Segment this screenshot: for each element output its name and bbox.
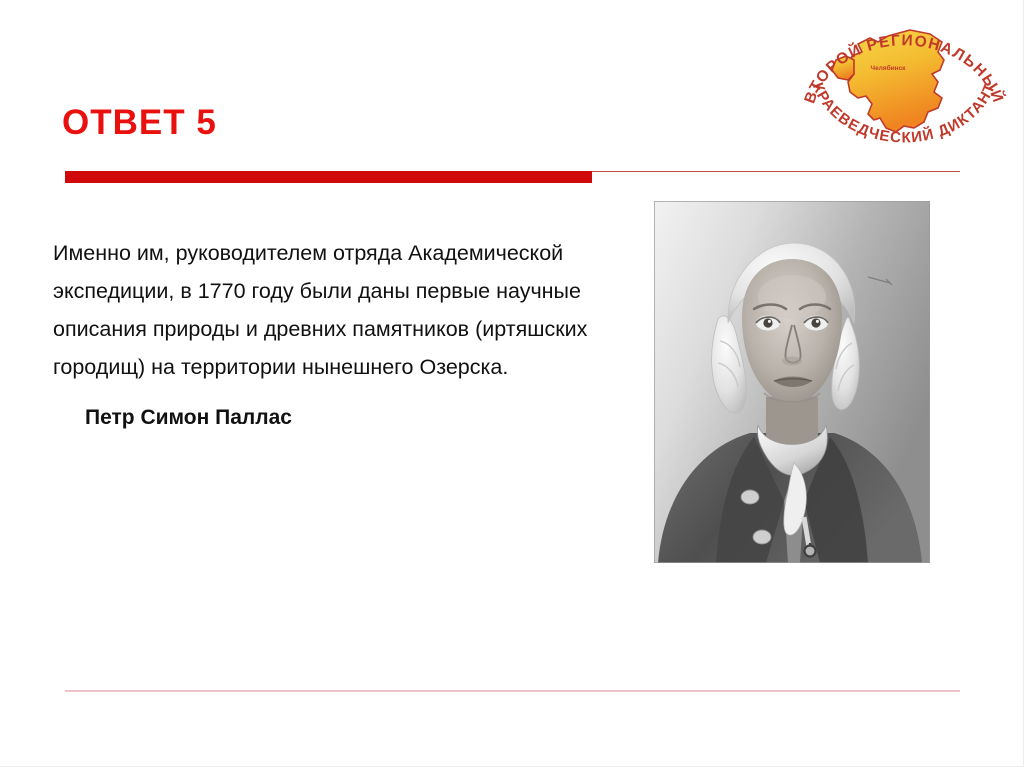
- footer-divider: [65, 690, 960, 692]
- paragraph-line: экспедиции, в 1770 году были даны первые…: [53, 272, 643, 310]
- answer-paragraph: Именно им, руководителем отряда Академич…: [53, 234, 643, 386]
- paragraph-line: городищ) на территории нынешнего Озерска…: [53, 348, 643, 386]
- map-city-label: Челябинск: [871, 64, 907, 72]
- title-divider-accent-bar: [65, 171, 592, 183]
- event-logo: Челябинск ВТОРОЙ РЕГИОНАЛЬНЫЙ КРАЕВЕДЧЕС…: [792, 8, 1016, 160]
- paragraph-line: описания природы и древних памятников (и…: [53, 310, 643, 348]
- title-divider: [65, 171, 960, 183]
- slide-root: Челябинск ВТОРОЙ РЕГИОНАЛЬНЫЙ КРАЕВЕДЧЕС…: [0, 0, 1024, 767]
- page-title: ОТВЕТ 5: [62, 103, 217, 143]
- paragraph-line: Именно им, руководителем отряда Академич…: [53, 234, 643, 272]
- portrait-image: [654, 201, 930, 563]
- answer-name: Петр Симон Паллас: [85, 405, 292, 430]
